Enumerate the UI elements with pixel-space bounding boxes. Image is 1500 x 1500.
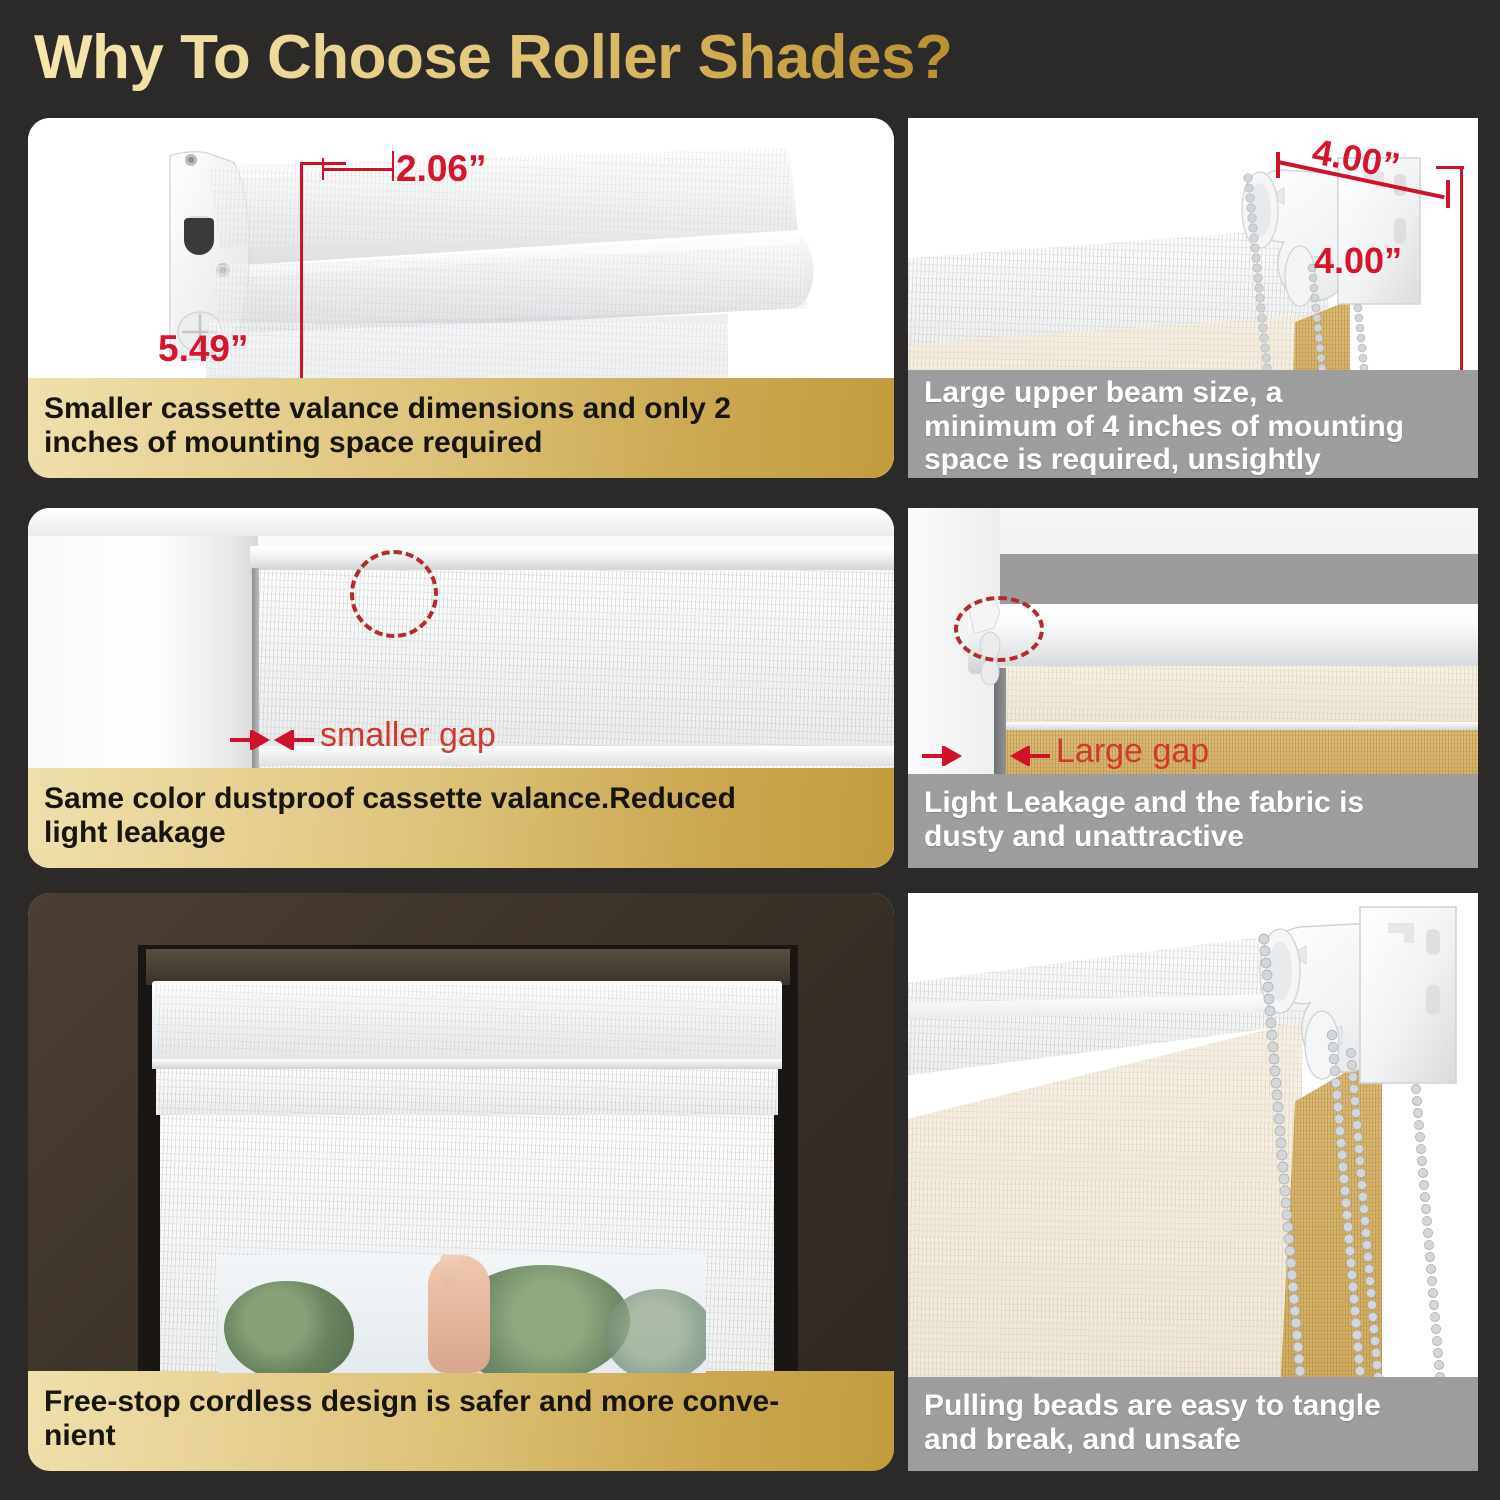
caption-line: Pulling beads are easy to tangle	[924, 1389, 1381, 1423]
gap-arrow-left	[922, 746, 964, 766]
highlight-circle	[350, 550, 438, 638]
caption-line: and break, and unsafe	[924, 1423, 1381, 1457]
width-dimension-label: 2.06”	[396, 148, 487, 190]
panel-middle-left: smaller gap Same color dustproof cassett…	[28, 508, 894, 868]
caption-middle-left: Same color dustproof cassette valance.Re…	[28, 768, 894, 868]
caption-line: space is required, unsightly	[924, 443, 1404, 477]
caption-top-right: Large upper beam size, a minimum of 4 in…	[908, 370, 1478, 478]
gap-label: Large gap	[1056, 732, 1209, 771]
fabric-cream-edge	[1000, 722, 1478, 730]
window-recess-top	[146, 949, 790, 985]
finger	[440, 1255, 460, 1285]
width-dimension-bar	[322, 168, 394, 171]
window-frame-top	[28, 508, 894, 536]
caption-line: Light Leakage and the fabric is	[924, 786, 1364, 820]
beam-width-tick-right	[1446, 180, 1450, 208]
caption-bottom-right: Pulling beads are easy to tangle and bre…	[908, 1377, 1478, 1471]
panel-bottom-right: Pulling beads are easy to tangle and bre…	[908, 893, 1478, 1471]
beam-height-tick-top	[1436, 166, 1464, 169]
page-title: Why To Choose Roller Shades?	[34, 22, 952, 93]
beam-width-tick-left	[1276, 152, 1280, 178]
infographic-root: Why To Choose Roller Shades?	[0, 0, 1500, 1500]
fabric-cream	[1000, 666, 1478, 726]
tree-far-right	[604, 1289, 706, 1373]
caption-line: inches of mounting space required	[44, 426, 731, 460]
caption-line: light leakage	[44, 816, 736, 850]
caption-middle-right: Light Leakage and the fabric is dusty an…	[908, 774, 1478, 868]
beam-height-label: 4.00”	[1314, 240, 1402, 282]
panel-middle-right: Large gap Light Leakage and the fabric i…	[908, 508, 1478, 868]
caption-line: nient	[44, 1419, 779, 1453]
caption-line: Large upper beam size, a	[924, 376, 1404, 410]
highlight-circle	[954, 596, 1044, 662]
cassette-face	[156, 985, 778, 1053]
gap-label: smaller gap	[320, 716, 496, 755]
caption-line: Free-stop cordless design is safer and m…	[44, 1385, 779, 1419]
gap-arrow-right	[1004, 746, 1050, 766]
gap-arrow-left	[230, 730, 270, 750]
caption-line: minimum of 4 inches of mounting	[924, 410, 1404, 444]
height-dimension-tick-top	[300, 162, 346, 165]
window-scene	[218, 1255, 706, 1373]
caption-line: Smaller cassette valance dimensions and …	[44, 392, 731, 426]
panel-top-right: 4.00” 4.00” Large upper beam size, a min…	[908, 118, 1478, 478]
roller-tube	[968, 604, 1478, 674]
caption-top-left: Smaller cassette valance dimensions and …	[28, 378, 894, 478]
caption-bottom-left: Free-stop cordless design is safer and m…	[28, 1371, 894, 1471]
gap-arrow-right	[268, 730, 314, 750]
panel-bottom-left: Free-stop cordless design is safer and m…	[28, 893, 894, 1471]
caption-line: Same color dustproof cassette valance.Re…	[44, 782, 736, 816]
fabric-roll	[156, 1069, 778, 1115]
panel-top-left: 2.06” 5.49” Smaller cassette valance dim…	[28, 118, 894, 478]
width-dimension-line-right	[392, 151, 394, 181]
height-dimension-label: 5.49”	[158, 328, 249, 370]
caption-line: dusty and unattractive	[924, 820, 1364, 854]
cassette-lip	[152, 1059, 782, 1069]
